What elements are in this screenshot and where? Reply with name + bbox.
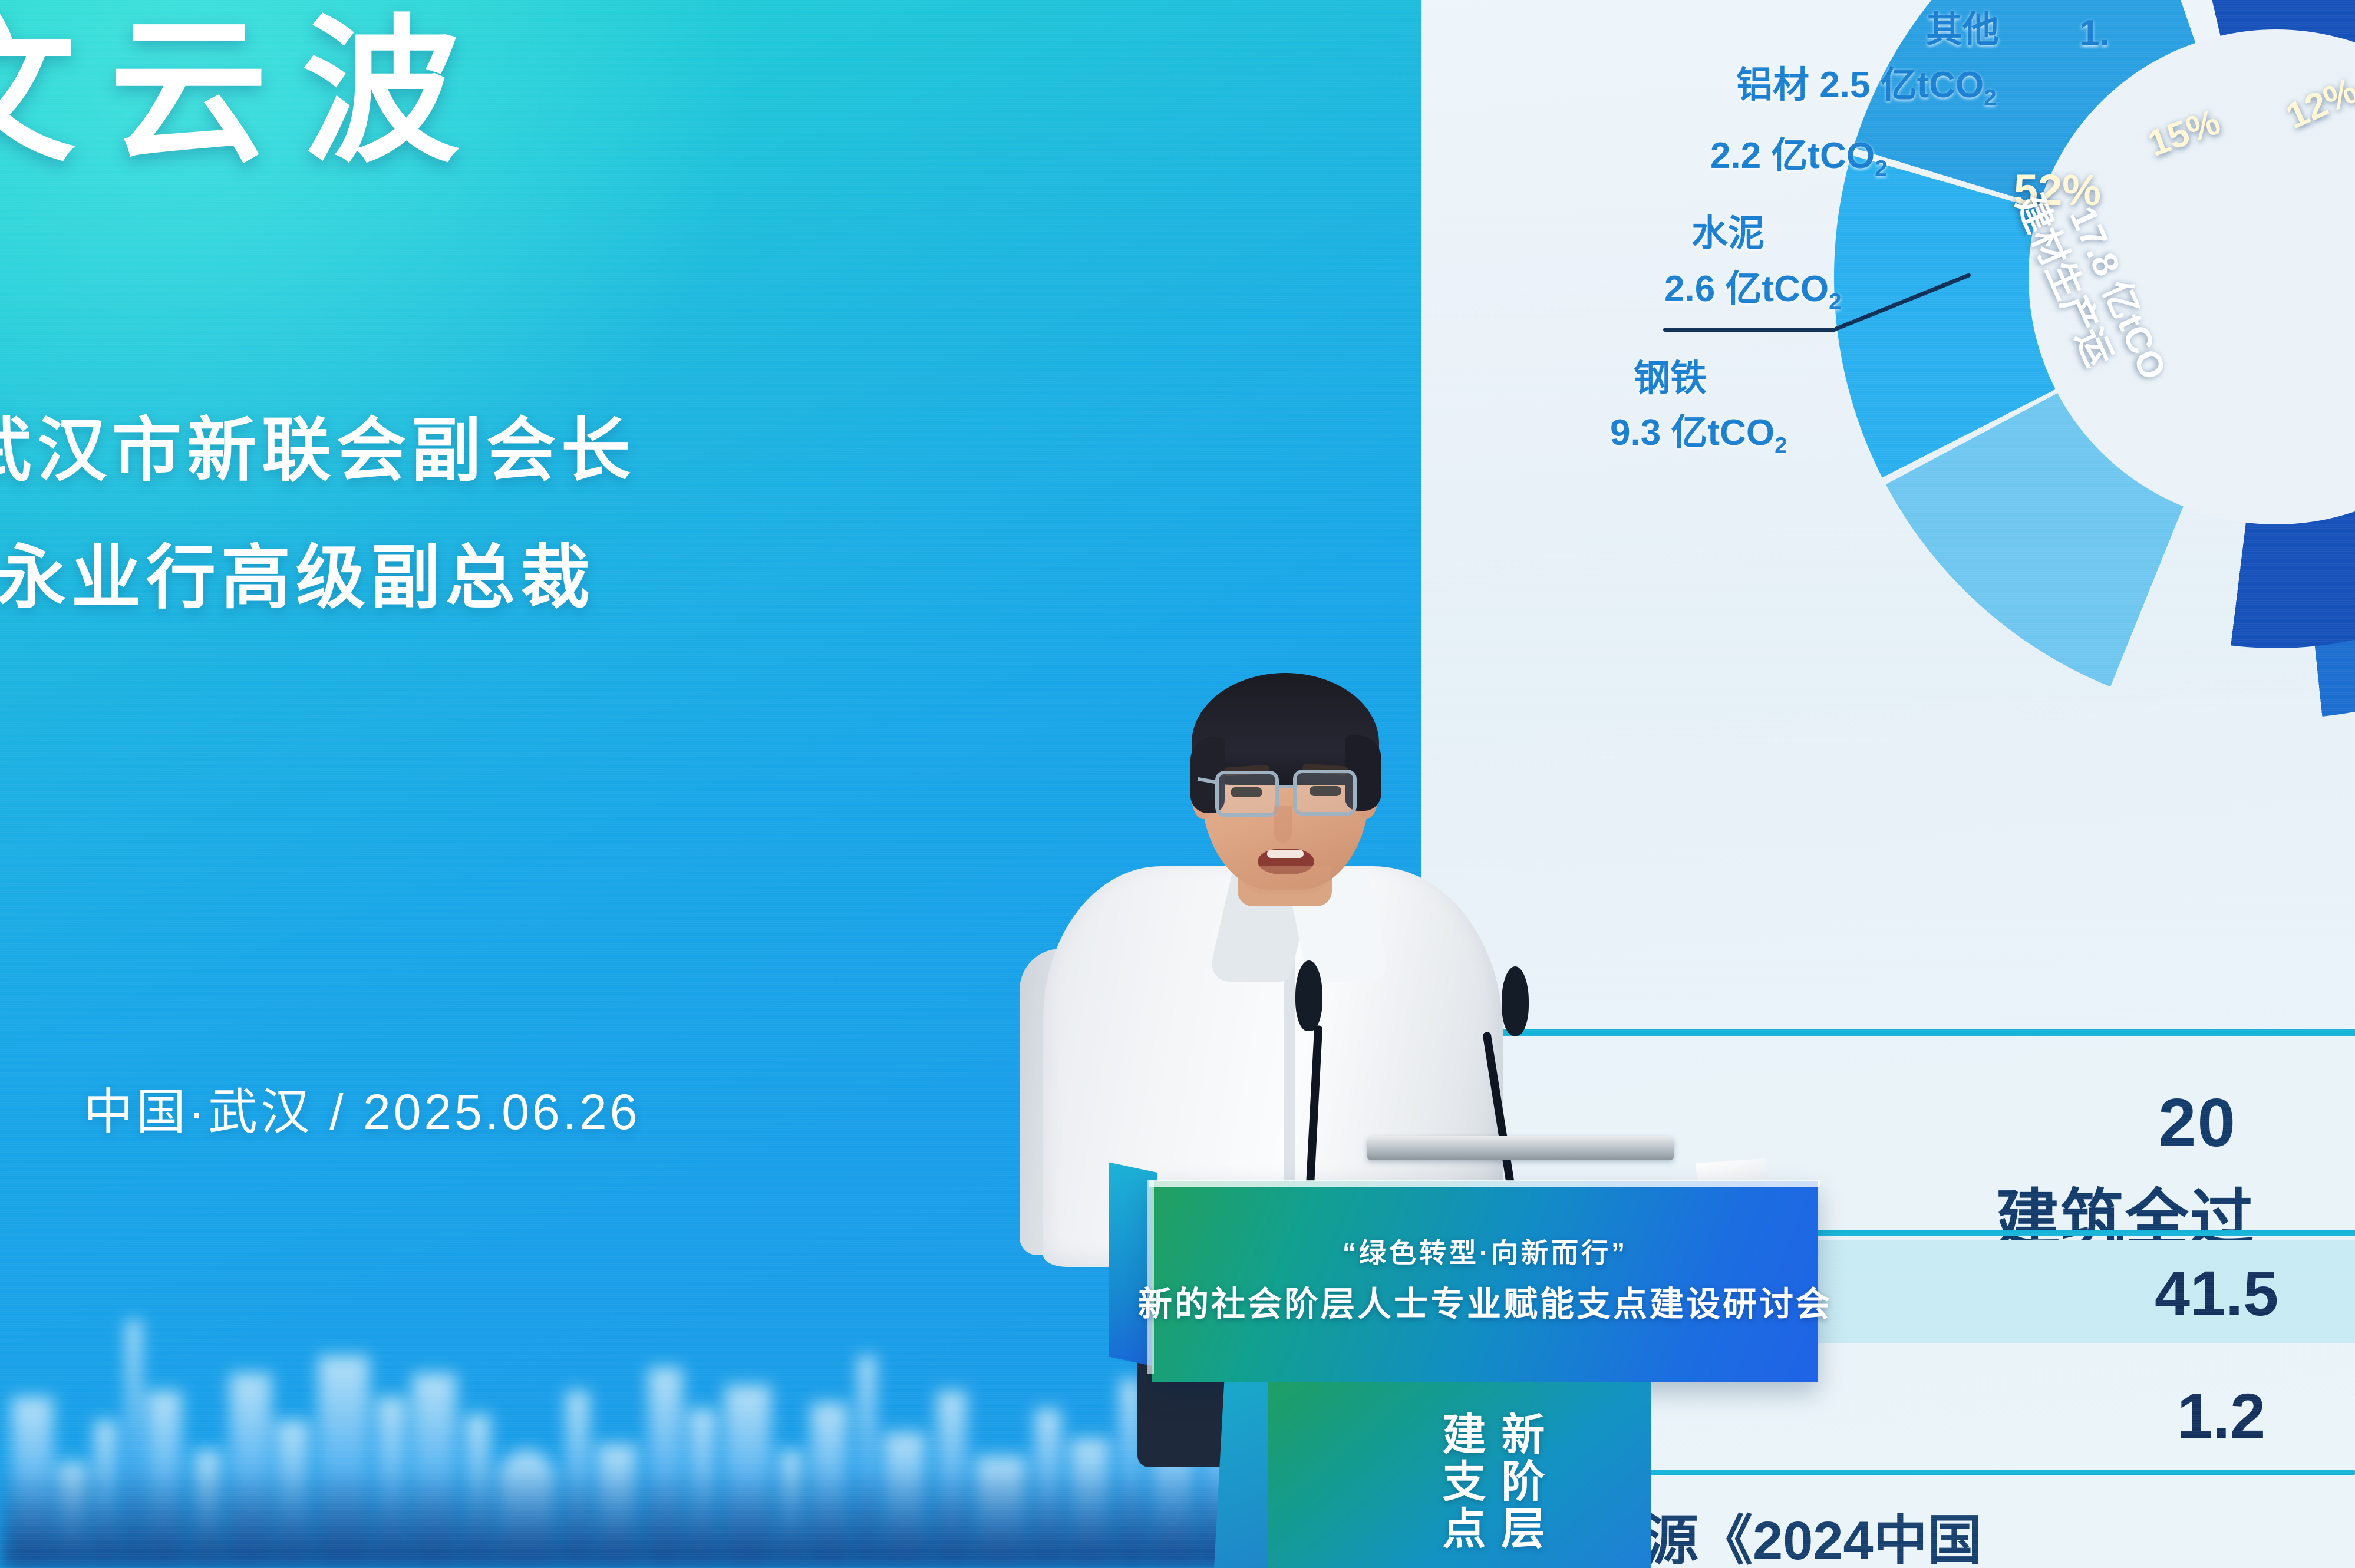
- chart-label-steel-text: 9.3 亿tCO: [1610, 412, 1775, 453]
- speaker-role-line1: 武汉市新联会副会长: [0, 416, 636, 486]
- speaker-chin-shadow: [1238, 866, 1332, 894]
- emissions-pie-chart: [1746, 0, 2355, 807]
- chart-label-other-name: 其他: [1926, 9, 1999, 51]
- table-row-2-value: 1.2: [2177, 1379, 2265, 1453]
- podium-conference-name: 新的社会阶层人士专业赋能支点建设研讨会: [1137, 1276, 1833, 1326]
- podium-vertical-text-left: 建支点: [1436, 1411, 1485, 1553]
- podium-top-edge: [1149, 1180, 1820, 1187]
- chart-label-steel-name: 钢铁: [1634, 358, 1707, 400]
- chart-label-cement-text: 2.6 亿tCO: [1664, 269, 1829, 309]
- table-row-1-value: 41.5: [2155, 1256, 2278, 1330]
- chart-label-aluminum-sub: 2: [1984, 85, 1996, 110]
- chart-label-aluminum-text: 铝材 2.5 亿tCO: [1736, 65, 1984, 105]
- microphone-head-right: [1502, 966, 1529, 1036]
- speaker-name: 文云波: [0, 13, 494, 171]
- microphone-head-left: [1295, 960, 1322, 1031]
- eyeglasses-lens-right-icon: [1293, 770, 1357, 816]
- speaker-teeth: [1267, 850, 1304, 858]
- table-rule-top: [1438, 1029, 2355, 1036]
- chart-label-steel-sub: 2: [1775, 433, 1787, 458]
- chart-label-cement-sub: 2: [1829, 289, 1841, 314]
- chart-label-cement-name: 水泥: [1691, 213, 1764, 255]
- chart-label-unnamed: 2.2 亿tCO2: [1710, 136, 1887, 181]
- leader-line-cement-horizontal: [1663, 328, 1836, 332]
- chart-label-unnamed-text: 2.2 亿tCO: [1710, 136, 1875, 176]
- microphone-right: [1497, 966, 1532, 1214]
- chart-label-other-value: 1.: [2079, 13, 2110, 55]
- chart-label-cement-value: 2.6 亿tCO2: [1664, 269, 1841, 315]
- table-title-year: 20: [2158, 1083, 2237, 1162]
- eyeglasses-bridge-icon: [1278, 785, 1295, 788]
- laptop-on-podium: [1367, 1136, 1674, 1160]
- chart-label-aluminum: 铝材 2.5 亿tCO2: [1736, 65, 1997, 111]
- conference-stage-photo: 文云波 武汉市新联会副会长 永业行高级副总裁 中国·武汉 / 2025.06.2…: [0, 0, 2355, 1568]
- event-place-date: 中国·武汉 / 2025.06.26: [84, 1087, 640, 1137]
- chart-label-steel-value: 9.3 亿tCO2: [1610, 412, 1787, 458]
- eyeglasses-lens-left-icon: [1215, 771, 1279, 817]
- microphone-left: [1291, 960, 1326, 1208]
- podium-vertical-text-right: 新阶层: [1495, 1411, 1543, 1553]
- chart-label-unnamed-sub: 2: [1875, 156, 1887, 181]
- speaker-role-line2: 永业行高级副总裁: [0, 543, 595, 613]
- speaker-nose: [1274, 806, 1292, 843]
- podium-slogan: “绿色转型·向新而行”: [1152, 1232, 1818, 1270]
